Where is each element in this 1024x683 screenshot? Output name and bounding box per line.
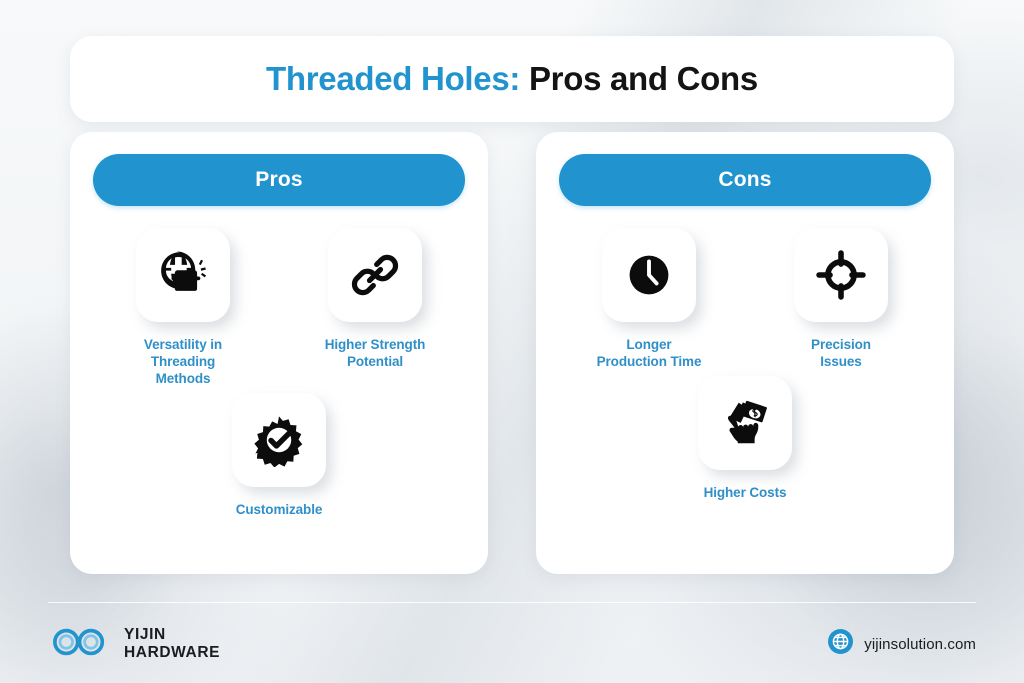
infinity-logo-icon — [48, 625, 110, 664]
globe-anvil-icon — [136, 228, 230, 322]
cons-heading-pill: Cons — [559, 154, 931, 206]
pros-heading-pill: Pros — [93, 154, 465, 206]
page-title-rest: Pros and Cons — [529, 60, 758, 97]
cons-item-higher-costs-label: Higher Costs — [704, 484, 787, 501]
pros-item-versatility-label: Versatility in Threading Methods — [144, 336, 222, 387]
cons-item-precision-label: Precision Issues — [811, 336, 871, 370]
cons-item-production-time[interactable]: Longer Production Time — [558, 228, 740, 370]
hand-money-icon — [698, 376, 792, 470]
cons-item-precision[interactable]: Precision Issues — [750, 228, 932, 370]
cons-heading-label: Cons — [718, 168, 771, 192]
footer: YIJIN HARDWARE yijinsolution.com — [0, 605, 1024, 683]
gear-check-icon — [232, 393, 326, 487]
pros-item-customizable-label: Customizable — [236, 501, 323, 518]
website-label: yijinsolution.com — [864, 636, 976, 653]
globe-icon — [828, 629, 853, 659]
crosshair-target-icon — [794, 228, 888, 322]
pros-column: Pros Versatility in Threading Methods — [70, 132, 488, 574]
pros-item-strength[interactable]: Higher Strength Potential — [284, 228, 466, 387]
cons-item-grid: Longer Production Time Precision Issue — [550, 228, 940, 501]
footer-divider — [48, 602, 976, 603]
brand-name: YIJIN HARDWARE — [124, 626, 220, 662]
cons-column: Cons Longer Production Time — [536, 132, 954, 574]
brand: YIJIN HARDWARE — [48, 625, 220, 664]
chain-link-icon — [328, 228, 422, 322]
cons-item-production-time-label: Longer Production Time — [597, 336, 702, 370]
cons-item-higher-costs[interactable]: Higher Costs — [654, 376, 836, 501]
infographic-canvas: Threaded Holes: Pros and Cons Pros Versa… — [0, 0, 1024, 683]
pros-heading-label: Pros — [255, 168, 303, 192]
pros-item-versatility[interactable]: Versatility in Threading Methods — [92, 228, 274, 387]
title-card: Threaded Holes: Pros and Cons — [70, 36, 954, 122]
page-title-highlight: Threaded Holes: — [266, 60, 520, 97]
pros-item-grid: Versatility in Threading Methods Higher … — [84, 228, 474, 519]
website[interactable]: yijinsolution.com — [828, 629, 976, 659]
page-title: Threaded Holes: Pros and Cons — [266, 60, 758, 98]
pros-item-customizable[interactable]: Customizable — [188, 393, 370, 518]
pros-item-strength-label: Higher Strength Potential — [325, 336, 426, 370]
clock-icon — [602, 228, 696, 322]
